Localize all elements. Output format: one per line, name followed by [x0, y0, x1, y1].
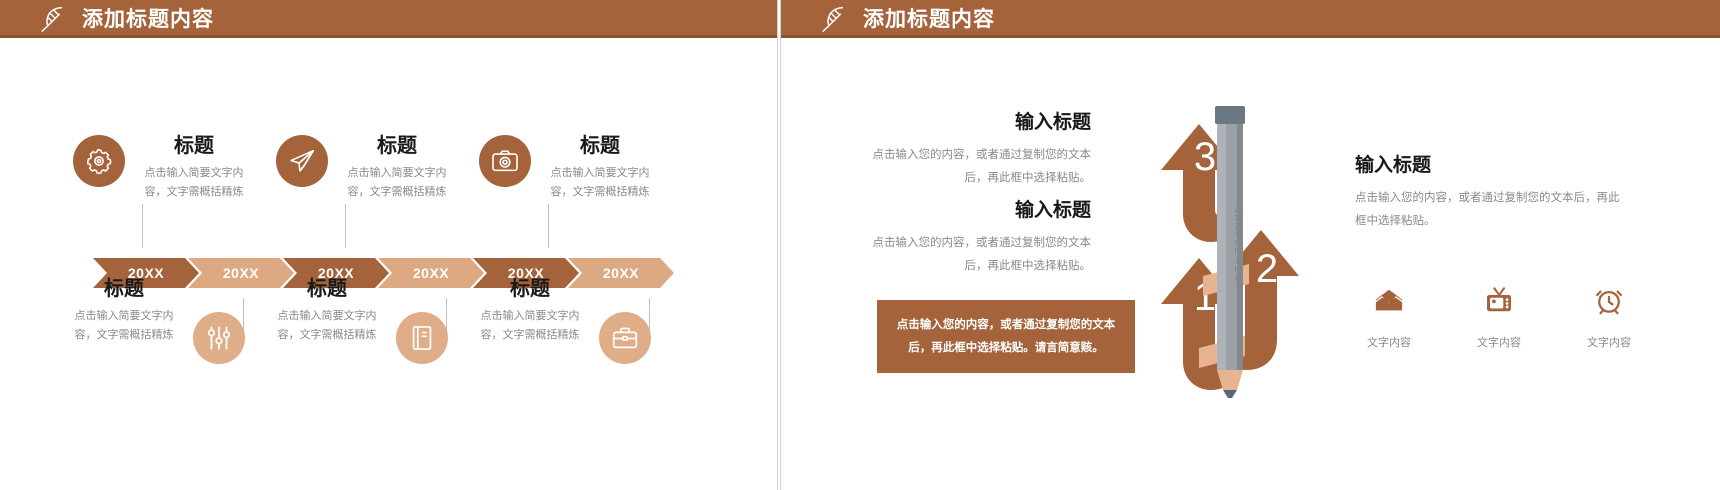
timeline-top-item-1: 标题 点击输入简要文字内容，文字需概括精炼 — [74, 135, 252, 203]
television-icon — [1484, 302, 1514, 319]
right-block-body-1: 点击输入您的内容，或者通过复制您的文本后，再此框中选择粘贴。 — [851, 144, 1091, 190]
slide-left: 添加标题内容 标题 点击输入简要文字内容，文字 — [0, 0, 777, 490]
right-icon-item-1[interactable]: 文字内容 — [1361, 285, 1417, 350]
right-icon-item-2[interactable]: 文字内容 — [1471, 285, 1527, 350]
timeline-bottom-title-1: 标题 — [65, 278, 183, 300]
timeline-top-title-3: 标题 — [541, 135, 659, 157]
timeline-bottom-body-3: 点击输入简要文字内容，文字需概括精炼 — [471, 307, 589, 346]
right-block-1: 输入标题 点击输入您的内容，或者通过复制您的文本后，再此框中选择粘贴。 — [851, 112, 1091, 190]
gear-icon-badge — [73, 135, 125, 187]
timeline-top-title-2: 标题 — [338, 135, 456, 157]
right-block-title-3: 输入标题 — [1355, 155, 1621, 178]
timeline-bottom-body-2: 点击输入简要文字内容，文字需概括精炼 — [268, 307, 386, 346]
right-icon-label-3: 文字内容 — [1581, 334, 1637, 350]
timeline-bottom-item-3: 标题 点击输入简要文字内容，文字需概括精炼 — [472, 278, 650, 364]
right-block-title-1: 输入标题 — [851, 112, 1091, 135]
alarm-clock-icon — [1594, 302, 1624, 319]
right-block-body-2: 点击输入您的内容，或者通过复制您的文本后，再此框中选择粘贴。 — [851, 232, 1091, 278]
book-icon-badge — [396, 312, 448, 364]
paper-plane-icon-badge — [276, 135, 328, 187]
arrow-2-number: 2 — [1256, 247, 1278, 291]
right-icon-label-1: 文字内容 — [1361, 334, 1417, 350]
timeline-top-item-3: 标题 点击输入简要文字内容，文字需概括精炼 — [480, 135, 658, 203]
pencil-arrows-illustration: 3 1 2 — [1099, 98, 1359, 398]
timeline-bottom-title-3: 标题 — [471, 278, 589, 300]
callout-box: 点击输入您的内容，或者通过复制您的文本后，再此框中选择粘贴。请言简意赅。 — [877, 300, 1135, 373]
timeline-tick-2 — [345, 204, 346, 248]
timeline-bottom-item-1: 标题 点击输入简要文字内容，文字需概括精炼 — [66, 278, 244, 364]
timeline-top-body-2: 点击输入简要文字内容，文字需概括精炼 — [338, 164, 456, 203]
envelope-icon — [1374, 302, 1404, 319]
timeline-bottom-body-1: 点击输入简要文字内容，文字需概括精炼 — [65, 307, 183, 346]
timeline-tick-1 — [142, 204, 143, 248]
briefcase-icon-badge — [599, 312, 651, 364]
right-block-2: 输入标题 点击输入您的内容，或者通过复制您的文本后，再此框中选择粘贴。 — [851, 200, 1091, 278]
timeline-top-title-1: 标题 — [135, 135, 253, 157]
timeline-top-body-3: 点击输入简要文字内容，文字需概括精炼 — [541, 164, 659, 203]
timeline-tick-3 — [548, 204, 549, 248]
timeline-bottom-item-2: 标题 点击输入简要文字内容，文字需概括精炼 — [269, 278, 447, 364]
timeline-diagram: 标题 点击输入简要文字内容，文字需概括精炼 — [0, 0, 777, 490]
timeline-bottom-title-2: 标题 — [268, 278, 386, 300]
slide-pair-page: 添加标题内容 标题 点击输入简要文字内容，文字 — [0, 0, 1720, 490]
slide-right: 添加标题内容 输入标题 点击输入您的内容，或者通过复制您的文本后，再此框中选择粘… — [781, 0, 1720, 490]
timeline-top-body-1: 点击输入简要文字内容，文字需概括精炼 — [135, 164, 253, 203]
right-block-title-2: 输入标题 — [851, 200, 1091, 223]
camera-icon-badge — [479, 135, 531, 187]
timeline-top-item-2: 标题 点击输入简要文字内容，文字需概括精炼 — [277, 135, 455, 203]
right-block-body-3: 点击输入您的内容，或者通过复制您的文本后，再此框中选择粘贴。 — [1355, 187, 1621, 233]
right-block-3: 输入标题 点击输入您的内容，或者通过复制您的文本后，再此框中选择粘贴。 — [1355, 155, 1621, 233]
pencil-label: SAMPLE TEXT — [1232, 207, 1243, 290]
right-icon-item-3[interactable]: 文字内容 — [1581, 285, 1637, 350]
right-icon-row: 文字内容 文字内容 — [1361, 285, 1637, 350]
arrow-3-number: 3 — [1194, 135, 1216, 179]
right-icon-label-2: 文字内容 — [1471, 334, 1527, 350]
sliders-icon-badge — [193, 312, 245, 364]
right-slide-body: 输入标题 点击输入您的内容，或者通过复制您的文本后，再此框中选择粘贴。 输入标题… — [781, 0, 1720, 490]
callout-text: 点击输入您的内容，或者通过复制您的文本后，再此框中选择粘贴。请言简意赅。 — [893, 314, 1119, 360]
